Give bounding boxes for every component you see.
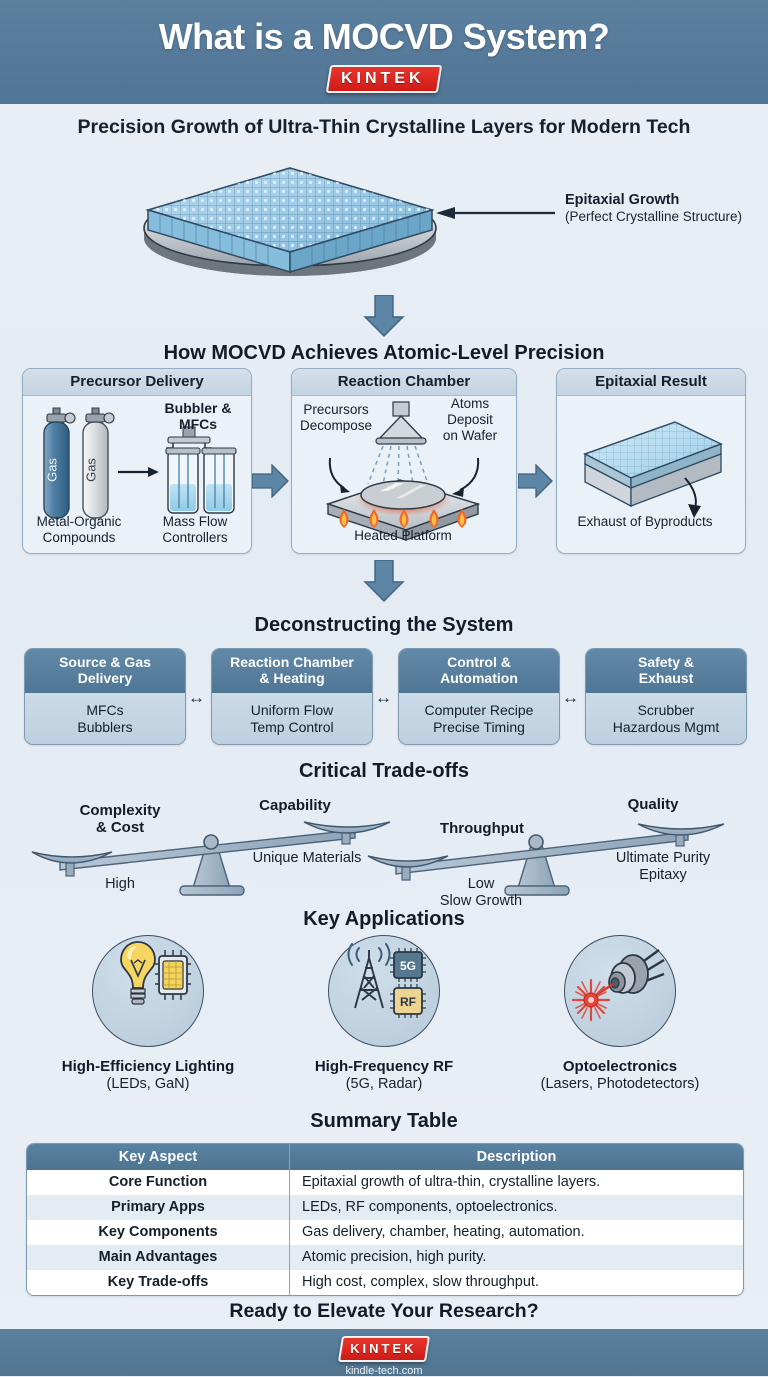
box-title-line1: Safety & [638,654,694,670]
application-title: High-Efficiency Lighting [20,1058,276,1075]
flow-arrow-down-1 [362,295,406,337]
application-title: Optoelectronics [492,1058,748,1075]
box-body: Uniform Flow Temp Control [212,693,372,744]
applications-heading: Key Applications [0,908,768,931]
caption-metal-organic-line1: Metal-Organic [37,514,122,529]
box-title-line1: Source & Gas [59,654,151,670]
tradeoff-scales: Complexity & Cost High Capability Unique… [0,790,768,910]
table-row: Key Trade-offs High cost, complex, slow … [27,1270,743,1295]
box-title-line1: Reaction Chamber [230,654,354,670]
kintek-logo-text: KINTEK [341,70,425,88]
caption-mass-flow-line1: Mass Flow [163,514,228,529]
table-row: Core Function Epitaxial growth of ultra-… [27,1170,743,1195]
callout-subtitle: (Perfect Crystalline Structure) [565,209,765,225]
caption-metal-organic-line2: Compounds [43,530,116,545]
caption-mass-flow-line2: Controllers [162,530,227,545]
application-subtitle: (Lasers, Photodetectors) [492,1076,748,1092]
column-header-key-aspect: Key Aspect [27,1144,289,1170]
panel-reaction-chamber: Reaction Chamber [291,368,517,554]
scale1-left-value: High [88,876,152,893]
footer-url: kindle-tech.com [345,1365,422,1377]
label-precursors-line1: Precursors [303,402,368,417]
label-atoms-line1: Atoms [451,396,489,411]
cta-text: Ready to Elevate Your Research? [0,1300,768,1323]
lightbulb-chip-icon [92,935,204,1047]
connector-arrow-3: ↔ [562,688,579,708]
cell-description: Atomic precision, high purity. [289,1245,743,1270]
box-title-line2: Automation [440,670,518,686]
svg-text:RF: RF [400,995,416,1009]
scale2-right-value: Ultimate Purity Epitaxy [588,850,738,883]
scale2-right-value-line2: Epitaxy [639,867,687,883]
page-subtitle: Precision Growth of Ultra-Thin Crystalli… [0,116,768,139]
label-atoms-line3: on Wafer [443,428,497,443]
panel-title: Precursor Delivery [23,369,251,396]
svg-text:Gas: Gas [45,458,60,482]
caption-metal-organic: Metal-Organic Compounds [23,514,135,546]
application-optoelectronics[interactable]: Optoelectronics (Lasers, Photodetectors) [492,935,748,1092]
antenna-chip-icon: 5G RF [328,935,440,1047]
flow-arrow-right-1 [252,464,290,498]
panel-precursor-delivery: Precursor Delivery [22,368,252,554]
scale1-left-title-line2: & Cost [96,819,144,836]
label-atoms-deposit: Atoms Deposit on Wafer [428,396,512,444]
box-title-line1: Control & [447,654,511,670]
application-subtitle: (LEDs, GaN) [20,1076,276,1092]
application-subtitle: (5G, Radar) [256,1076,512,1092]
box-body: Scrubber Hazardous Mgmt [586,693,746,744]
box-body: Computer Recipe Precise Timing [399,693,559,744]
table-row: Main Advantages Atomic precision, high p… [27,1245,743,1270]
cell-aspect: Key Components [27,1220,289,1245]
connector-arrow-2: ↔ [375,688,392,708]
scale2-right-value-line1: Ultimate Purity [616,850,710,866]
box-body-line2: Bubblers [77,719,132,736]
table-row: Key Components Gas delivery, chamber, he… [27,1220,743,1245]
box-body-line1: MFCs [86,702,123,719]
box-body-line2: Temp Control [250,719,333,736]
caption-heated-platform: Heated Platform [292,528,514,544]
label-precursors-decompose: Precursors Decompose [294,402,378,434]
scale1-left-title: Complexity & Cost [58,802,182,837]
page-footer: KINTEK kindle-tech.com [0,1329,768,1376]
application-title: High-Frequency RF [256,1058,512,1075]
tradeoffs-heading: Critical Trade-offs [0,760,768,783]
box-body: MFCs Bubblers [25,693,185,744]
table-header-row: Key Aspect Description [27,1144,743,1170]
page-title: What is a MOCVD System? [159,0,610,58]
bubbler-mfc-label-line1: Bubbler & [165,400,232,416]
column-header-description: Description [289,1144,743,1170]
cell-aspect: Key Trade-offs [27,1270,289,1295]
bubbler-mfc-label-line2: MFCs [179,416,217,432]
flow-arrow-right-2 [518,464,554,498]
cell-aspect: Main Advantages [27,1245,289,1270]
deconstruct-box-control-automation[interactable]: Control & Automation Computer Recipe Pre… [398,648,560,745]
box-body-line2: Hazardous Mgmt [613,719,720,736]
scale2-left-value-line1: Low [468,876,495,892]
process-panels: Precursor Delivery [0,368,768,554]
label-precursors-line2: Decompose [300,418,372,433]
kintek-logo-footer: KINTEK [338,1336,431,1362]
box-body-line2: Precise Timing [433,719,525,736]
caption-mass-flow: Mass Flow Controllers [143,514,247,546]
process-heading: How MOCVD Achieves Atomic-Level Precisio… [0,342,768,365]
scale2-left-value: Low Slow Growth [420,876,542,909]
deconstruct-box-source-gas-delivery[interactable]: Source & Gas Delivery MFCs Bubblers [24,648,186,745]
cell-aspect: Primary Apps [27,1195,289,1220]
deconstruct-box-reaction-chamber-heating[interactable]: Reaction Chamber & Heating Uniform Flow … [211,648,373,745]
deconstruct-box-safety-exhaust[interactable]: Safety & Exhaust Scrubber Hazardous Mgmt [585,648,747,745]
kintek-logo-footer-text: KINTEK [350,1341,416,1356]
application-items: High-Efficiency Lighting (LEDs, GaN) [0,935,768,1095]
deconstruct-heading: Deconstructing the System [0,614,768,637]
laser-diode-icon [564,935,676,1047]
deconstruct-boxes: Source & Gas Delivery MFCs Bubblers ↔ Re… [0,648,768,746]
scale1-right-title: Capability [240,797,350,814]
scale2-left-title: Throughput [420,820,544,837]
box-title-line2: & Heating [259,670,324,686]
cell-description: Gas delivery, chamber, heating, automati… [289,1220,743,1245]
application-high-efficiency-lighting[interactable]: High-Efficiency Lighting (LEDs, GaN) [20,935,276,1092]
box-body-line1: Computer Recipe [425,702,534,719]
scale2-left-value-line2: Slow Growth [440,893,522,909]
box-title: Reaction Chamber & Heating [212,649,372,693]
kintek-logo: KINTEK [326,65,442,93]
caption-exhaust-byproducts: Exhaust of Byproducts [557,514,733,530]
epitaxial-growth-callout: Epitaxial Growth (Perfect Crystalline St… [565,192,765,226]
cell-description: High cost, complex, slow throughput. [289,1270,743,1295]
scale1-left-title-line1: Complexity [80,802,161,819]
box-body-line1: Uniform Flow [251,702,333,719]
box-title-line2: Delivery [78,670,132,686]
svg-text:5G: 5G [400,959,416,973]
application-high-frequency-rf[interactable]: 5G RF High-Frequency [256,935,512,1092]
infographic-page: What is a MOCVD System? KINTEK Precision… [0,0,768,1376]
scale2-right-title: Quality [598,796,708,813]
connector-arrow-1: ↔ [188,688,205,708]
page-header: What is a MOCVD System? KINTEK [0,0,768,104]
box-body-line1: Scrubber [638,702,695,719]
panel-title: Reaction Chamber [292,369,516,396]
flow-arrow-down-2 [362,560,406,602]
summary-heading: Summary Table [0,1110,768,1133]
cell-aspect: Core Function [27,1170,289,1195]
cell-description: Epitaxial growth of ultra-thin, crystall… [289,1170,743,1195]
panel-title: Epitaxial Result [557,369,745,396]
callout-title: Epitaxial Growth [565,192,765,209]
box-title: Safety & Exhaust [586,649,746,693]
panel-epitaxial-result: Epitaxial Result [556,368,746,554]
scale1-right-value: Unique Materials [222,850,392,867]
bubbler-mfc-label: Bubbler & MFCs [153,400,243,432]
table-row: Primary Apps LEDs, RF components, optoel… [27,1195,743,1220]
box-title: Control & Automation [399,649,559,693]
cell-description: LEDs, RF components, optoelectronics. [289,1195,743,1220]
box-title: Source & Gas Delivery [25,649,185,693]
label-atoms-line2: Deposit [447,412,493,427]
svg-text:Gas: Gas [84,458,99,482]
summary-table: Key Aspect Description Core Function Epi… [26,1143,744,1296]
box-title-line2: Exhaust [639,670,693,686]
